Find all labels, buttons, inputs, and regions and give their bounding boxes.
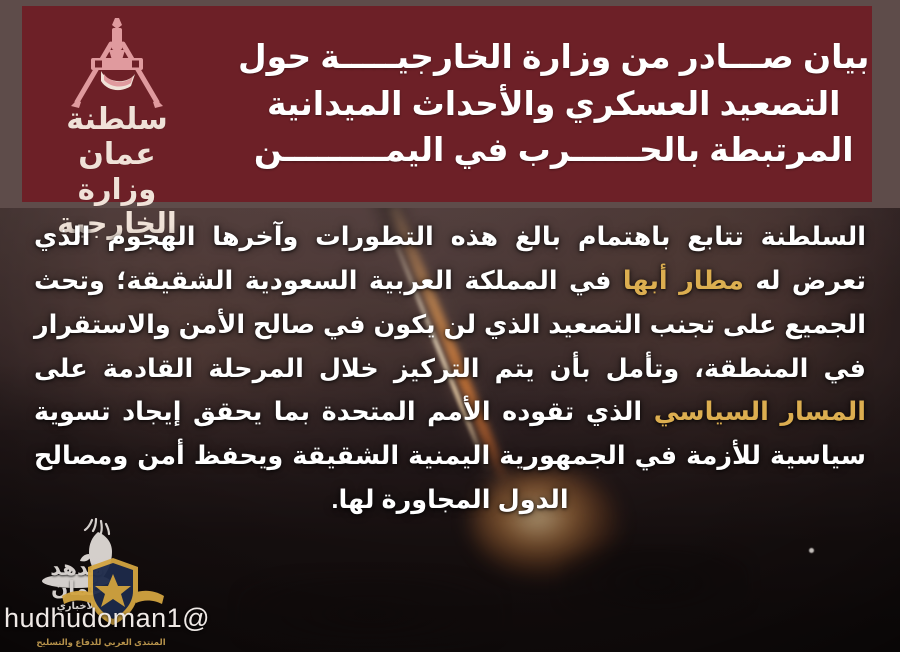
header-banner: سلطنة عمان وزارة الخارجية بيان صـــادر م… <box>22 6 872 202</box>
banner-title-line-3: المرتبطة بالحــــــرب في اليمـــــــــن <box>238 127 869 174</box>
oman-khanjar-emblem-icon <box>57 14 177 110</box>
statement-highlight: المسار السياسي <box>654 398 866 426</box>
banner-title-line-1: بيان صـــادر من وزارة الخارجيـــــة حول <box>238 34 869 81</box>
statement-paragraph: السلطنة تتابع باهتمام بالغ هذه التطورات … <box>34 216 866 523</box>
social-handle: @hudhudoman1 <box>4 603 210 634</box>
statement-highlight: مطار أبها <box>623 267 744 295</box>
ministry-emblem: سلطنة عمان وزارة الخارجية <box>22 6 212 202</box>
photo-speck <box>809 548 814 553</box>
emblem-line-1: سلطنة عمان <box>29 102 205 173</box>
banner-title: بيان صـــادر من وزارة الخارجيـــــة حول … <box>212 34 887 175</box>
shield-caption: المنتدى العربي للدفاع والتسليح <box>26 637 176 648</box>
banner-title-line-2: التصعيد العسكري والأحداث الميدانية <box>238 81 869 128</box>
banner-frame: سلطنة عمان وزارة الخارجية بيان صـــادر م… <box>0 0 900 208</box>
statement-body: السلطنة تتابع باهتمام بالغ هذه التطورات … <box>34 216 866 523</box>
statement-graphic: سلطنة عمان وزارة الخارجية بيان صـــادر م… <box>0 0 900 652</box>
